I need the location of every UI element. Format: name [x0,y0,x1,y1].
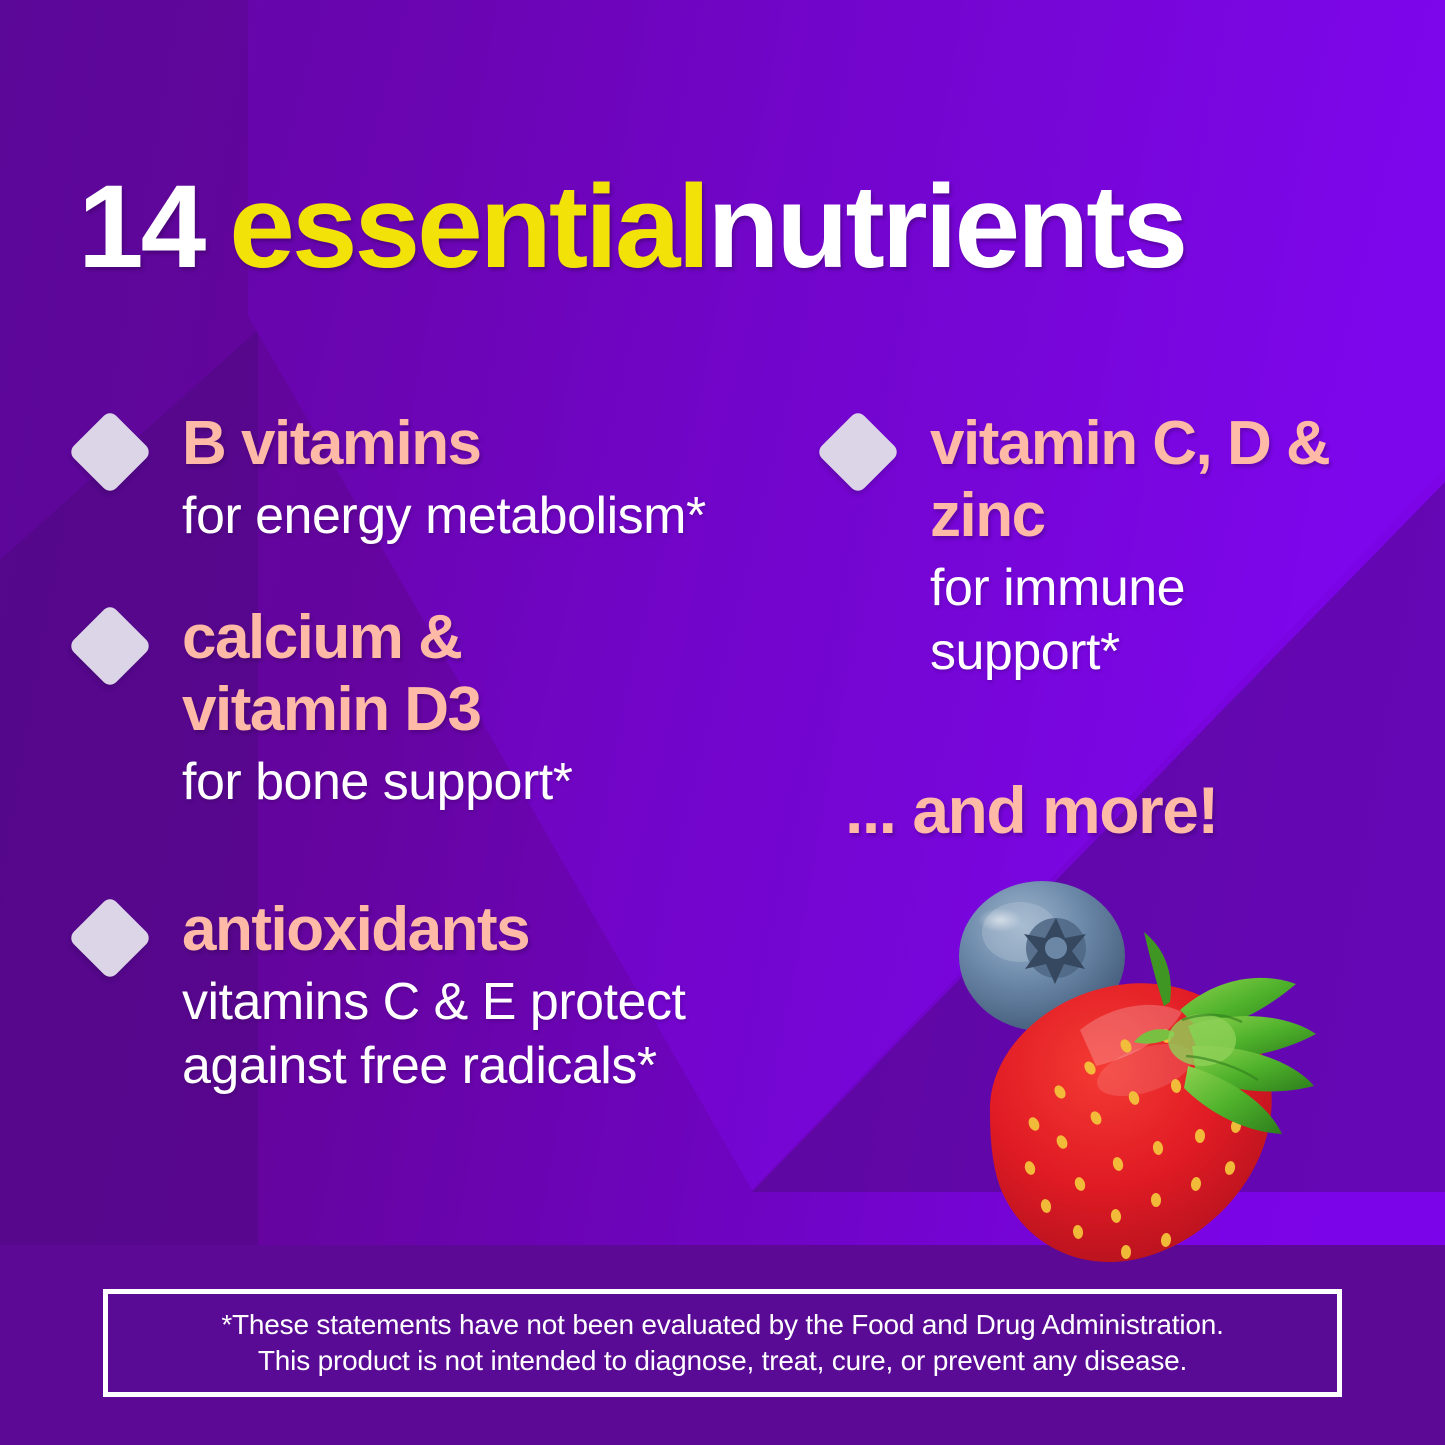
benefit-item-calcium-vitamin-d3: calcium & vitamin D3 for bone support* [72,602,832,814]
and-more-text: ... and more! [845,772,1218,848]
heading-highlight: essential [229,161,707,293]
benefit-title: antioxidants [182,894,832,966]
disclaimer-line-2: This product is not intended to diagnose… [258,1343,1187,1379]
fda-disclaimer-box: *These statements have not been evaluate… [103,1289,1342,1397]
benefit-item-vitamin-c-d-zinc: vitamin C, D & zinc for immune support* [820,408,1400,684]
diamond-bullet-icon [68,604,153,689]
benefit-item-b-vitamins: B vitamins for energy metabolism* [72,408,832,548]
benefit-title: B vitamins [182,408,832,480]
disclaimer-line-1: *These statements have not been evaluate… [221,1307,1223,1343]
benefit-description: vitamins C & E protect against free radi… [182,970,792,1098]
benefit-description: for energy metabolism* [182,484,832,548]
benefit-description: for immune support* [930,556,1260,684]
diamond-bullet-icon [816,410,901,495]
heading-count: 14 [78,161,203,293]
benefit-description: for bone support* [182,750,832,814]
benefits-right-column: vitamin C, D & zinc for immune support* [820,408,1400,738]
infographic-canvas: 14essentialnutrients B vitamins for ener… [0,0,1445,1445]
page-title: 14essentialnutrients [78,168,1378,286]
diamond-bullet-icon [68,410,153,495]
heading-rest: nutrients [707,161,1185,293]
diamond-bullet-icon [68,896,153,981]
berry-imagery [930,880,1330,1280]
benefit-title: vitamin C, D & zinc [930,408,1400,552]
benefit-item-antioxidants: antioxidants vitamins C & E protect agai… [72,894,832,1098]
benefit-title: calcium & vitamin D3 [182,602,652,746]
benefits-left-column: B vitamins for energy metabolism* calciu… [72,408,832,1152]
